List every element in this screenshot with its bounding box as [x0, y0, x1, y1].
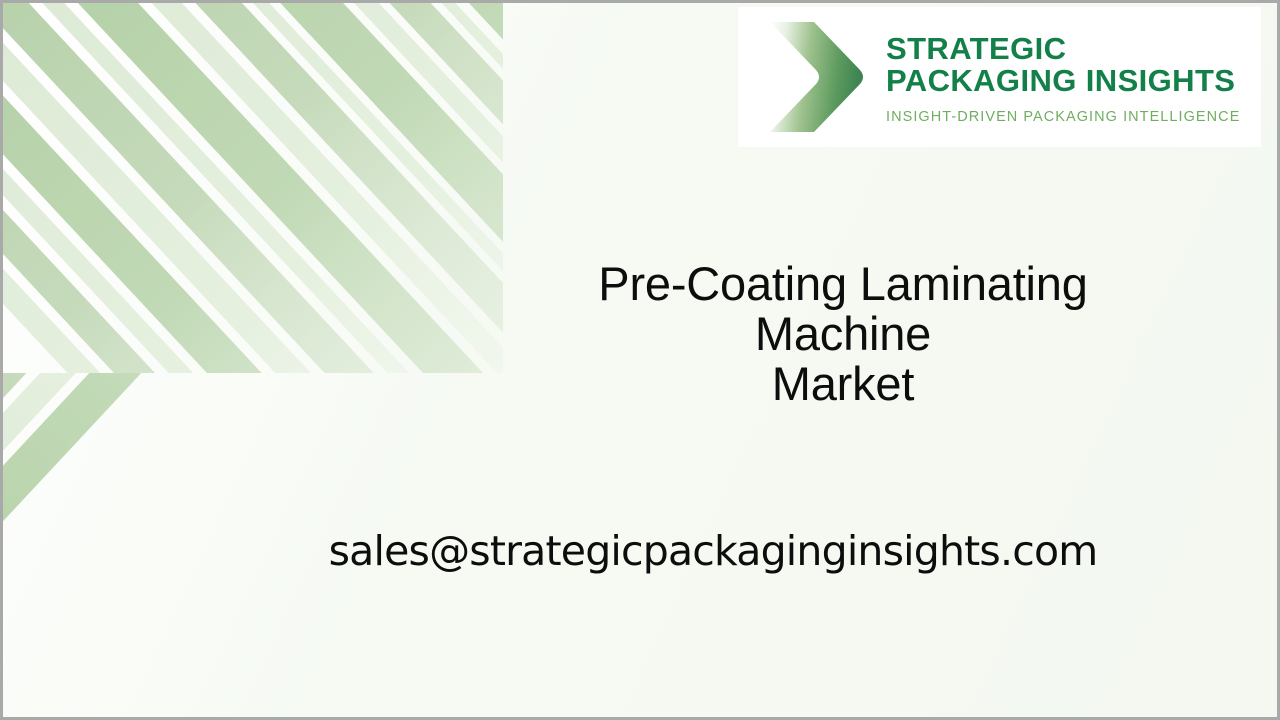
company-logo: STRATEGIC PACKAGING INSIGHTS INSIGHT-DRI…: [738, 7, 1261, 147]
contact-email[interactable]: sales@strategicpackaginginsights.com: [183, 525, 1243, 577]
title-line-3: Market: [443, 359, 1243, 409]
chevron-arrow-icon: [756, 12, 874, 142]
title-slide: STRATEGIC PACKAGING INSIGHTS INSIGHT-DRI…: [0, 0, 1280, 720]
logo-line-1: STRATEGIC: [886, 33, 1240, 65]
decorative-chevron-stripes: [3, 3, 503, 717]
logo-tagline: INSIGHT-DRIVEN PACKAGING INTELLIGENCE: [886, 109, 1240, 125]
title-line-2: Machine: [443, 309, 1243, 359]
page-title: Pre-Coating Laminating Machine Market: [443, 259, 1243, 409]
logo-line-2: PACKAGING INSIGHTS: [886, 65, 1240, 97]
title-line-1: Pre-Coating Laminating: [443, 259, 1243, 309]
slide-canvas: STRATEGIC PACKAGING INSIGHTS INSIGHT-DRI…: [3, 3, 1277, 717]
logo-wordmark: STRATEGIC PACKAGING INSIGHTS INSIGHT-DRI…: [886, 29, 1240, 125]
